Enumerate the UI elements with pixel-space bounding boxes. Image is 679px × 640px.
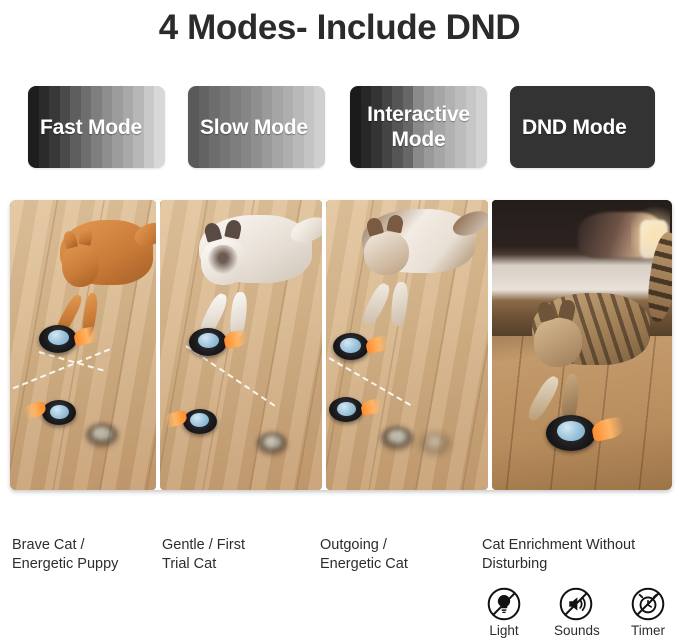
no-timer-icon: [630, 586, 666, 622]
robot-toy-motion-ghost: [86, 423, 118, 446]
caption-interactive-line2: Energetic Cat: [320, 555, 470, 574]
photo-panel-slow: [160, 200, 322, 490]
caption-fast: Brave Cat / Energetic Puppy: [12, 536, 152, 574]
calico-cat: [362, 209, 475, 313]
dnd-feature-icons: Light Sounds Timer: [482, 586, 679, 640]
mode-button-fast-label: Fast Mode: [28, 86, 165, 168]
mode-button-dnd[interactable]: DND Mode: [510, 86, 655, 168]
mode-button-interactive-label: Interactive Mode: [350, 86, 487, 168]
feature-light-label: Light: [482, 623, 526, 639]
photo-panel-fast: [10, 200, 156, 490]
product-feature-graphic: 4 Modes- Include DND Fast Mode Slow Mode…: [0, 0, 679, 640]
no-light-icon: [486, 586, 522, 622]
caption-fast-line2: Energetic Puppy: [12, 555, 152, 574]
photo-strip: [10, 200, 672, 490]
caption-dnd-line2: Disturbing: [482, 555, 672, 574]
robot-toy-secondary: [329, 397, 363, 422]
feature-timer: Timer: [626, 586, 670, 640]
mode-button-fast[interactable]: Fast Mode: [28, 86, 165, 168]
caption-slow-line2: Trial Cat: [162, 555, 312, 574]
robot-toy-secondary: [42, 400, 76, 425]
caption-dnd: Cat Enrichment Without Disturbing: [482, 536, 672, 574]
tabby-cat: [532, 293, 651, 409]
caption-slow: Gentle / First Trial Cat: [162, 536, 312, 574]
caption-interactive-line1: Outgoing /: [320, 536, 470, 555]
caption-slow-line1: Gentle / First: [162, 536, 312, 555]
robot-toy-motion-ghost: [420, 432, 450, 454]
caption-interactive: Outgoing / Energetic Cat: [320, 536, 470, 574]
photo-panel-interactive: [326, 200, 488, 490]
robot-toy: [39, 325, 77, 353]
photo-panel-dnd: [492, 200, 672, 490]
feature-timer-label: Timer: [626, 623, 670, 639]
feature-sounds-label: Sounds: [554, 623, 598, 639]
robot-toy: [546, 415, 596, 451]
mode-button-interactive-label-line1: Interactive: [367, 102, 470, 127]
mode-button-row: Fast Mode Slow Mode Interactive Mode DND…: [0, 86, 679, 170]
mode-button-dnd-label: DND Mode: [510, 86, 655, 168]
mode-button-interactive[interactable]: Interactive Mode: [350, 86, 487, 168]
mode-button-slow-label: Slow Mode: [188, 86, 325, 168]
mode-button-slow[interactable]: Slow Mode: [188, 86, 325, 168]
robot-toy-motion-ghost: [381, 426, 413, 449]
feature-light: Light: [482, 586, 526, 640]
page-title: 4 Modes- Include DND: [0, 6, 679, 50]
caption-dnd-line1: Cat Enrichment Without: [482, 536, 672, 555]
robot-toy: [333, 333, 369, 360]
feature-sounds: Sounds: [554, 586, 598, 640]
robot-toy-motion-ghost: [257, 432, 287, 454]
ragdoll-cat: [199, 215, 312, 325]
mode-button-interactive-label-line2: Mode: [367, 127, 470, 152]
ginger-cat: [60, 220, 154, 324]
caption-fast-line1: Brave Cat /: [12, 536, 152, 555]
no-sound-icon: [558, 586, 594, 622]
caption-row: Brave Cat / Energetic Puppy Gentle / Fir…: [0, 536, 679, 584]
robot-toy: [189, 328, 227, 356]
robot-toy-secondary: [183, 409, 217, 434]
